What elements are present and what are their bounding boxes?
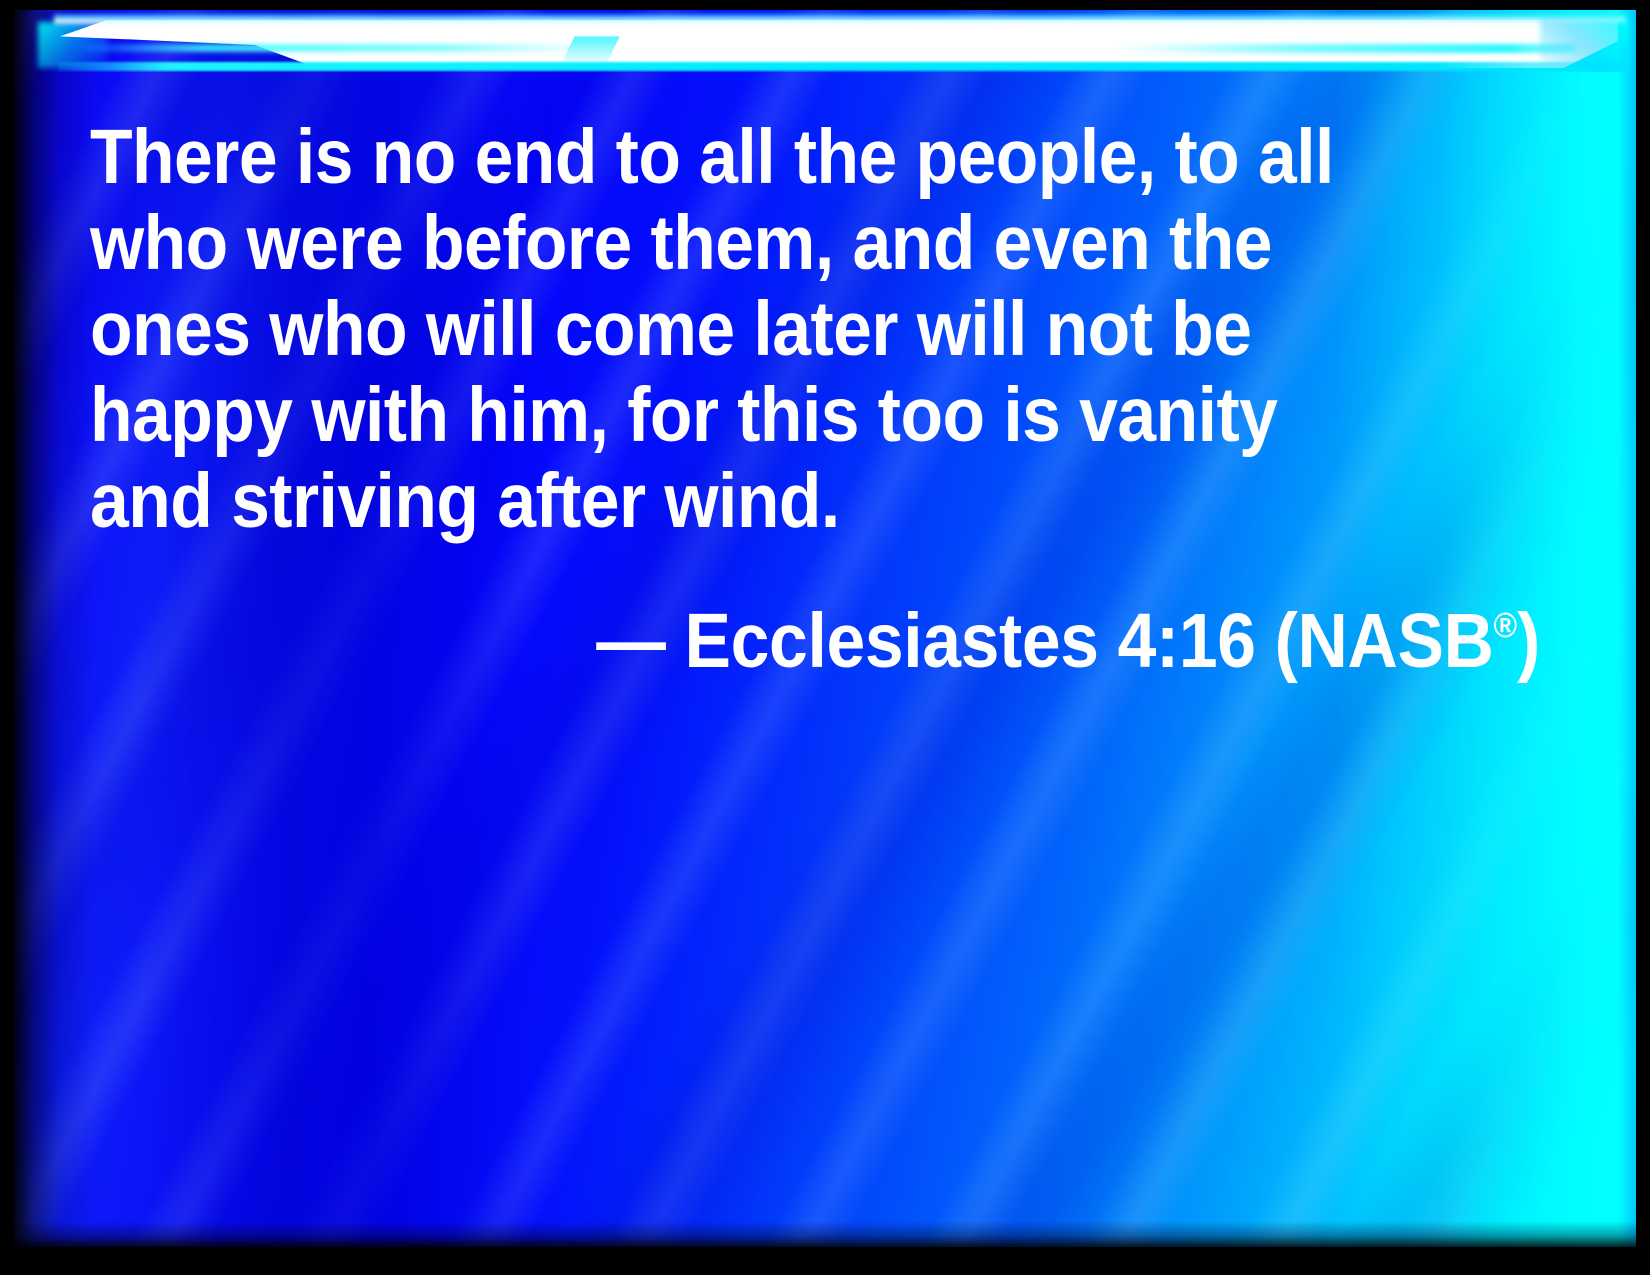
attribution-translation-open: (NASB xyxy=(1275,598,1494,684)
attribution-reference: Ecclesiastes 4:16 xyxy=(685,598,1256,684)
top-band-cyan-streak-right xyxy=(1116,44,1576,53)
registered-trademark-icon: ® xyxy=(1494,605,1518,645)
attribution-translation-close: ) xyxy=(1517,598,1540,684)
slide-canvas: There is no end to all the people, to al… xyxy=(14,10,1636,1247)
background-left-vignette xyxy=(14,10,94,1247)
verse-slide: There is no end to all the people, to al… xyxy=(0,0,1650,1275)
top-band-upper-glow xyxy=(54,14,1626,24)
top-band-cyan-streak-left xyxy=(74,44,594,52)
top-band-cyan-underline xyxy=(58,62,1622,71)
verse-body-text: There is no end to all the people, to al… xyxy=(90,114,1402,544)
top-band-right-glow xyxy=(1540,20,1630,72)
attribution-em-dash: — xyxy=(596,598,665,684)
verse-block: There is no end to all the people, to al… xyxy=(90,114,1540,684)
top-highlight-band xyxy=(14,10,1636,72)
verse-attribution: — Ecclesiastes 4:16 (NASB®) xyxy=(228,582,1540,684)
background-bottom-vignette xyxy=(14,1221,1636,1247)
